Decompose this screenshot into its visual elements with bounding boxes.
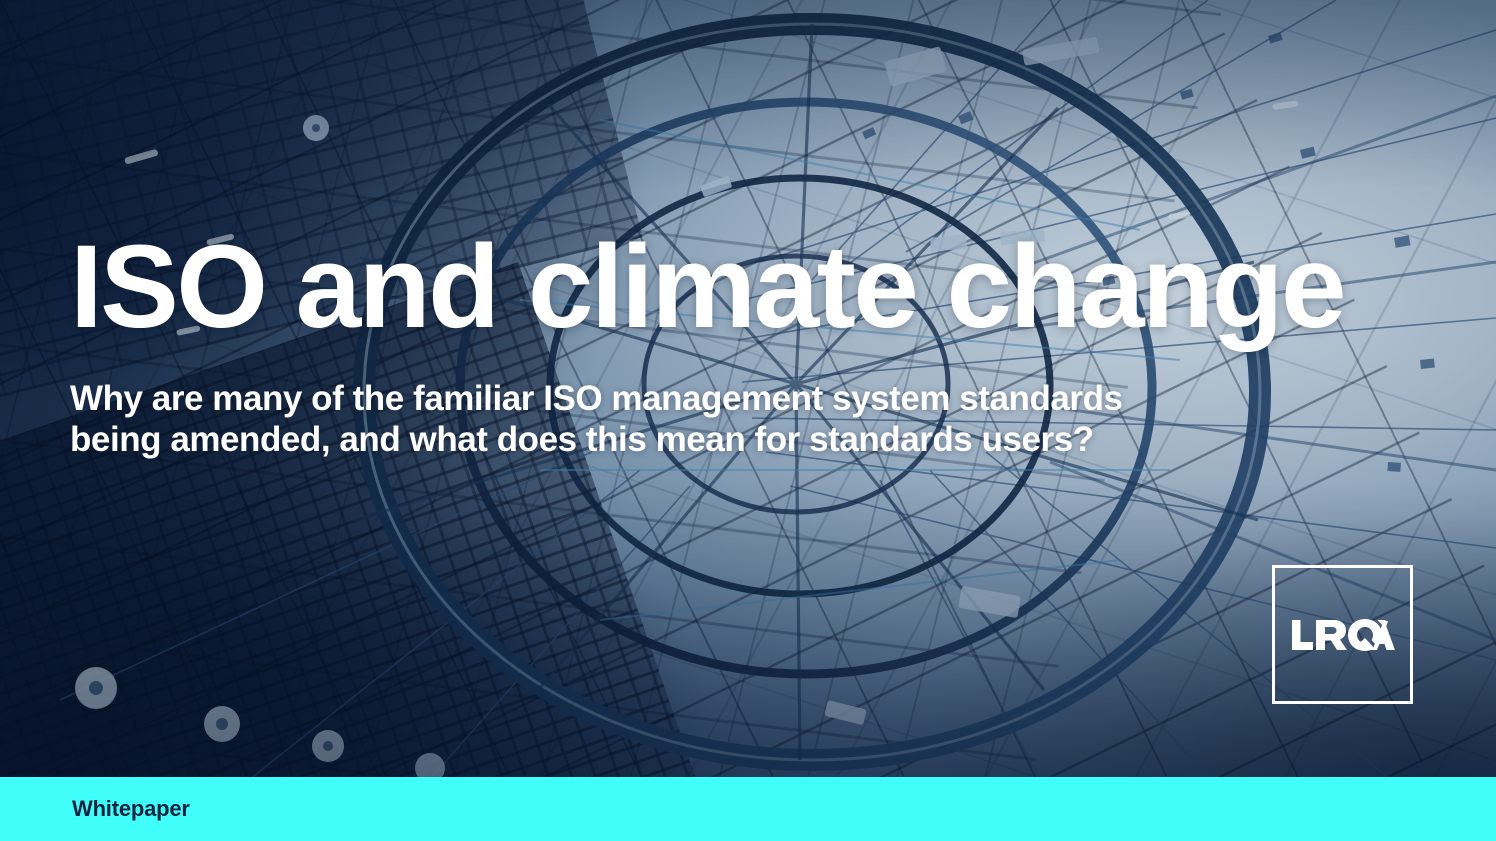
page-subtitle: Why are many of the familiar ISO managem… (70, 378, 1330, 460)
whitepaper-cover: ISO and climate change Why are many of t… (0, 0, 1496, 841)
lrqa-logo-icon (1291, 618, 1395, 652)
page-subtitle-line-2: being amended, and what does this mean f… (70, 419, 1330, 460)
lrqa-logo (1272, 565, 1413, 704)
page-subtitle-line-1: Why are many of the familiar ISO managem… (70, 378, 1330, 419)
footer-bar: Whitepaper (0, 777, 1496, 841)
page-title: ISO and climate change (70, 228, 1344, 346)
footer-document-type-label: Whitepaper (72, 796, 190, 822)
